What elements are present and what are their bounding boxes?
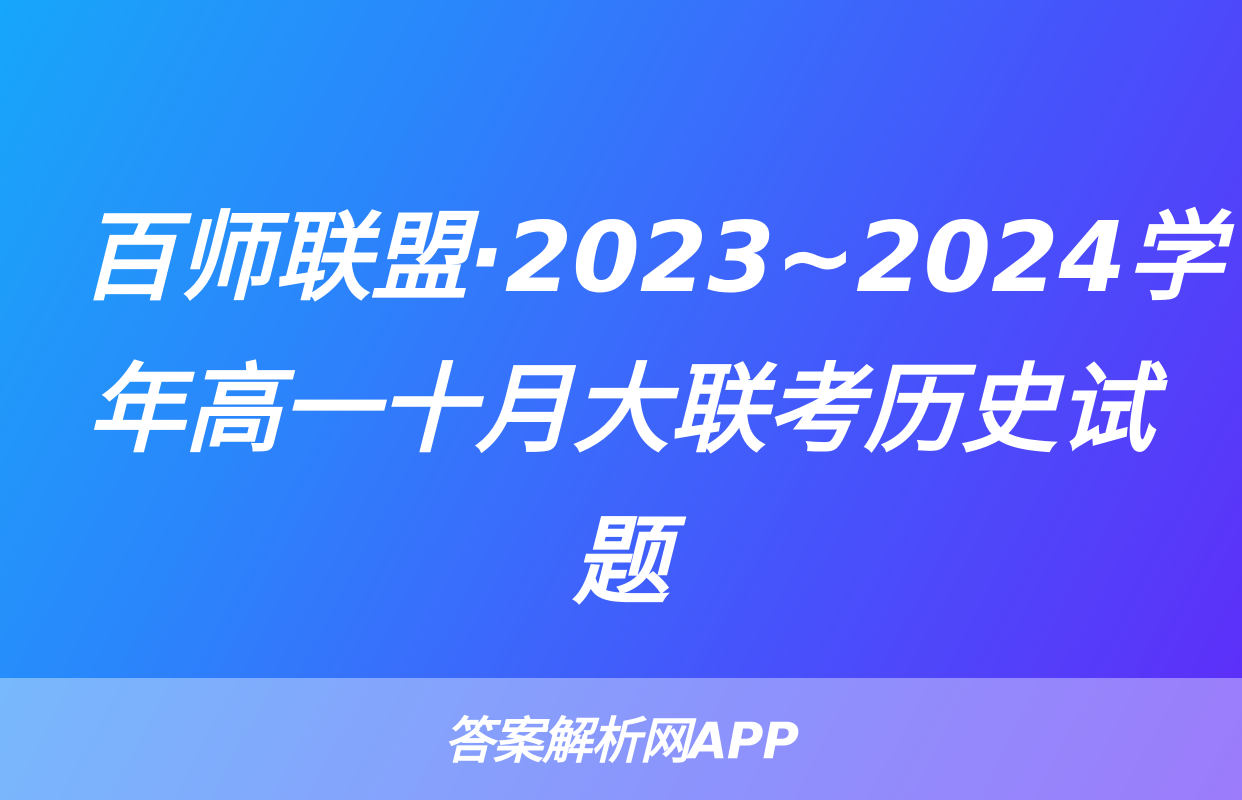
title-line-2: 年高一十月大联考历史试 bbox=[80, 334, 1162, 486]
app-watermark-label: 答案解析网APP bbox=[444, 716, 798, 766]
title-line-1: 百师联盟·2023~2024学 bbox=[80, 182, 1162, 334]
footer-band-inner: 答案解析网APP bbox=[0, 678, 1242, 800]
footer-watermark-band: 答案解析网APP bbox=[0, 678, 1242, 800]
title-card: 百师联盟·2023~2024学 年高一十月大联考历史试 题 答案解析网APP bbox=[0, 0, 1242, 800]
title-line-3: 题 bbox=[80, 486, 1162, 638]
page-title: 百师联盟·2023~2024学 年高一十月大联考历史试 题 bbox=[0, 182, 1242, 638]
